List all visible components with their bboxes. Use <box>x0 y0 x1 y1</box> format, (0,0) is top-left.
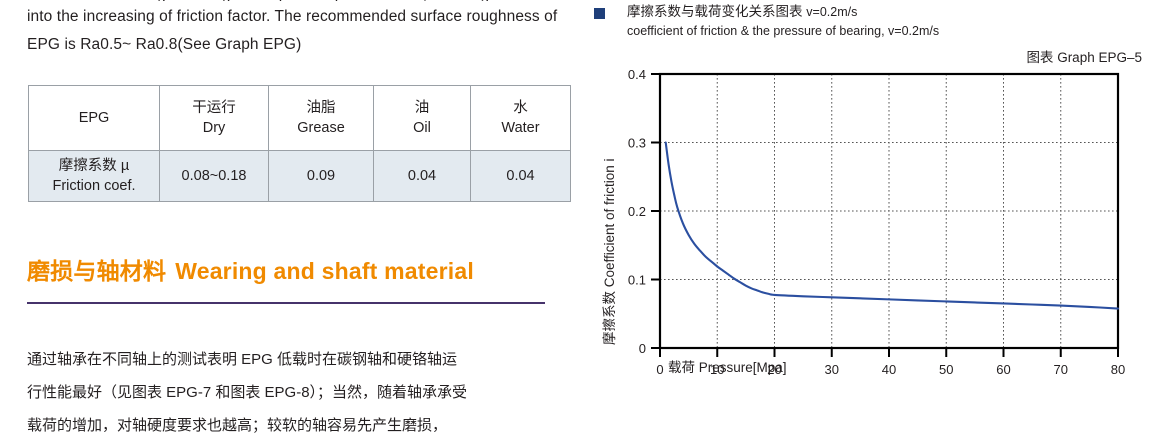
y-axis-ticks <box>651 74 660 348</box>
table-cell-water-value: 0.04 <box>471 151 571 202</box>
x-tick-label: 40 <box>882 362 896 377</box>
y-tick-label: 0.4 <box>628 67 646 82</box>
heading-divider <box>27 302 545 304</box>
paragraph-line-3: 载荷的增加，对轴硬度要求也越高；较软的轴容易先产生磨损， <box>27 409 572 442</box>
left-content-column: of shaft and bearing have a great impact… <box>0 0 590 421</box>
table-header-cell-dry: 干运行 Dry <box>160 86 269 151</box>
table-row: 摩擦系数 µ Friction coef. 0.08~0.18 0.09 0.0… <box>29 151 571 202</box>
x-tick-label: 30 <box>825 362 839 377</box>
table-header-cell-oil: 油 Oil <box>374 86 471 151</box>
x-tick-label: 70 <box>1054 362 1068 377</box>
x-axis-ticks <box>660 348 1118 357</box>
header-epg-en: EPG <box>31 108 157 128</box>
table-header-cell-epg: EPG <box>29 86 160 151</box>
intro-paragraph: into the increasing of friction factor. … <box>27 3 567 59</box>
table-header-cell-water: 水 Water <box>471 86 571 151</box>
x-tick-label: 0 <box>656 362 663 377</box>
y-tick-label: 0 <box>639 341 646 356</box>
y-axis-tick-labels: 00.10.20.30.4 <box>628 67 646 356</box>
intro-clipped-line: of shaft and bearing have a great impact… <box>27 0 567 1</box>
section-heading-en: Wearing and shaft material <box>175 258 474 284</box>
header-oil-en: Oil <box>376 118 468 138</box>
chart-panel: 摩擦系数与载荷变化关系图表 v=0.2m/s coefficient of fr… <box>590 0 1160 421</box>
header-water-cn: 水 <box>473 98 568 118</box>
table-header-cell-grease: 油脂 Grease <box>269 86 374 151</box>
table-header-row: EPG 干运行 Dry 油脂 Grease 油 Oil 水 Water <box>29 86 571 151</box>
x-tick-label: 50 <box>939 362 953 377</box>
paragraph-line-1: 通过轴承在不同轴上的测试表明 EPG 低载时在碳钢轴和硬铬轴运 <box>27 343 572 376</box>
row-label-cn: 摩擦系数 µ <box>31 156 157 176</box>
table-cell-dry-value: 0.08~0.18 <box>160 151 269 202</box>
row-label-en: Friction coef. <box>31 176 157 196</box>
header-dry-en: Dry <box>162 118 266 138</box>
header-oil-cn: 油 <box>376 98 468 118</box>
friction-pressure-chart: 00.10.20.30.4 01020304050607080 载荷 Press… <box>590 0 1160 421</box>
header-grease-cn: 油脂 <box>271 98 371 118</box>
x-axis-title: 载荷 Pressure[Mpa] <box>668 360 787 375</box>
paragraph-line-2: 行性能最好（见图表 EPG-7 和图表 EPG-8）；当然，随着轴承承受 <box>27 376 572 409</box>
header-water-en: Water <box>473 118 568 138</box>
table-cell-oil-value: 0.04 <box>374 151 471 202</box>
y-tick-label: 0.2 <box>628 204 646 219</box>
x-tick-label: 80 <box>1111 362 1125 377</box>
y-axis-title: 摩擦系数 Coefficient of friction i <box>601 158 617 345</box>
y-tick-label: 0.1 <box>628 273 646 288</box>
header-grease-en: Grease <box>271 118 371 138</box>
friction-coefficient-table: EPG 干运行 Dry 油脂 Grease 油 Oil 水 Water 摩擦系数… <box>28 85 571 202</box>
section-heading: 磨损与轴材料Wearing and shaft material <box>27 252 474 286</box>
section-heading-cn: 磨损与轴材料 <box>27 258 166 284</box>
table-cell-grease-value: 0.09 <box>269 151 374 202</box>
header-dry-cn: 干运行 <box>162 98 266 118</box>
y-tick-label: 0.3 <box>628 136 646 151</box>
chinese-body-paragraph: 通过轴承在不同轴上的测试表明 EPG 低载时在碳钢轴和硬铬轴运 行性能最好（见图… <box>27 343 572 442</box>
x-tick-label: 60 <box>996 362 1010 377</box>
table-cell-row-label: 摩擦系数 µ Friction coef. <box>29 151 160 202</box>
